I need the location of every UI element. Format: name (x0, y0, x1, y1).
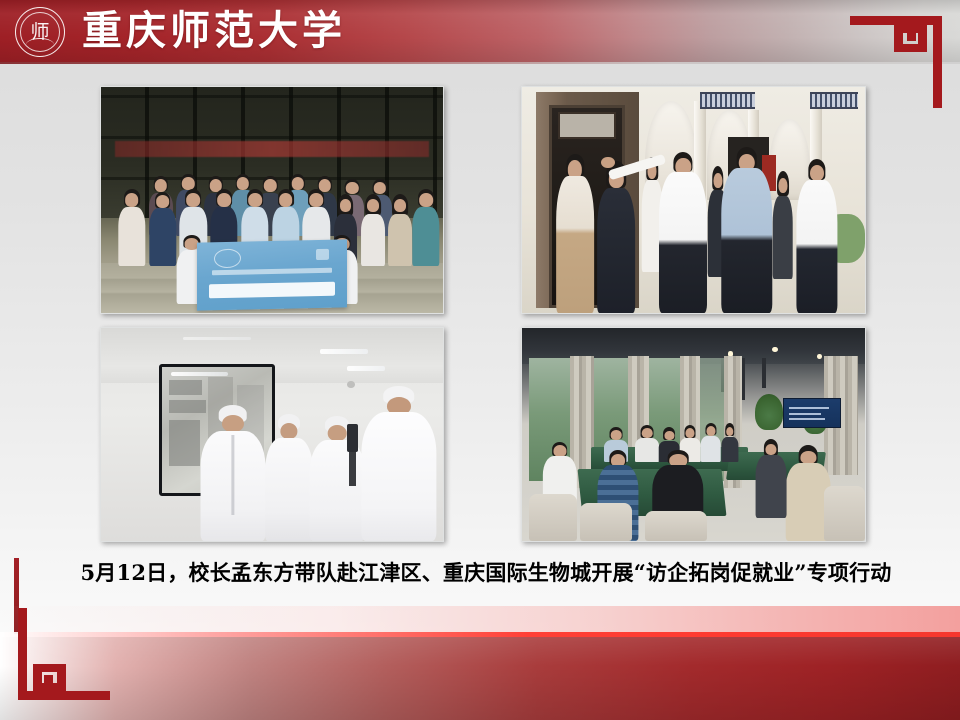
university-seal-icon: 师 (15, 7, 65, 57)
gallery-photo-cleanroom-lab[interactable] (100, 327, 444, 542)
footer-banner (0, 637, 960, 720)
seal-glyph: 师 (15, 7, 65, 57)
person-lab-coat-speaking (361, 388, 436, 541)
person-lab-coat (200, 407, 265, 541)
person-lab-coat (265, 415, 313, 541)
gallery-photo-conference-meeting[interactable] (521, 327, 866, 542)
key-fret-ornament-icon (12, 602, 116, 706)
seal-book-shape (26, 38, 54, 46)
header-divider (0, 62, 960, 64)
photo-content (522, 328, 865, 541)
microphone-icon (347, 424, 358, 452)
presentation-screen (783, 398, 841, 428)
gallery-photo-group-steps[interactable] (100, 86, 444, 314)
slide-canvas: 师 重庆师范大学 (0, 0, 960, 720)
university-name: 重庆师范大学 (82, 3, 346, 59)
photo-content (101, 87, 443, 313)
photo-content (522, 87, 865, 313)
slide-caption: 5月12日，校长孟东方带队赴江津区、重庆国际生物城开展“访企拓岗促就业”专项行动 (46, 558, 926, 588)
event-banner (197, 239, 347, 310)
gallery-photo-corridor-tour[interactable] (521, 86, 866, 314)
photo-content (101, 328, 443, 541)
